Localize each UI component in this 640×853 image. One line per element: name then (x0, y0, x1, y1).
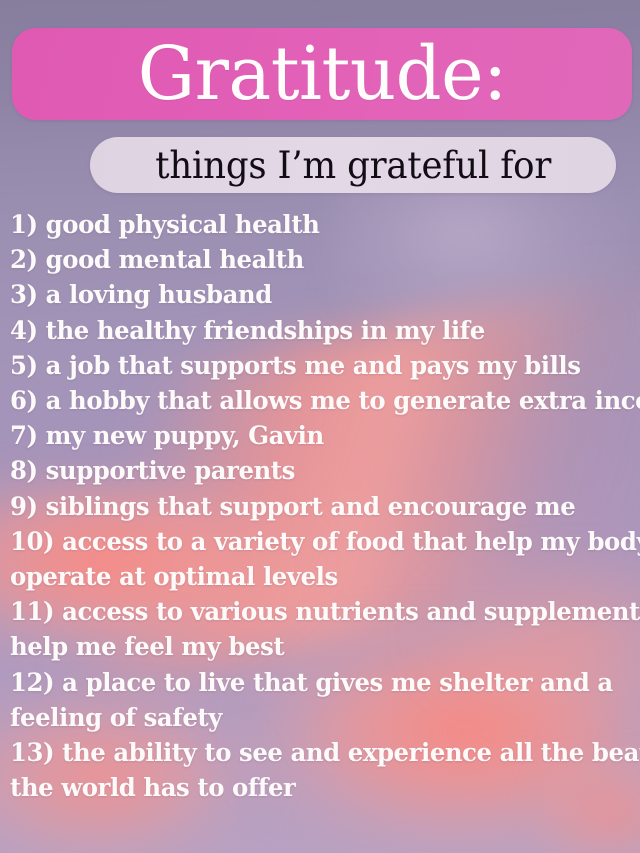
gratitude-list: 1) good physical health 2) good mental h… (10, 208, 634, 806)
list-item: 7) my new puppy, Gavin (10, 419, 606, 454)
title-banner: Gratitude: (12, 28, 632, 120)
list-item: 6) a hobby that allows me to generate ex… (10, 384, 606, 419)
list-item: 11) access to various nutrients and supp… (10, 595, 606, 630)
list-item: 9) siblings that support and encourage m… (10, 490, 606, 525)
list-item: 10) access to a variety of food that hel… (10, 525, 606, 560)
list-item: 2) good mental health (10, 243, 606, 278)
list-item-continuation: operate at optimal levels (10, 560, 606, 595)
page-title: Gratitude: (137, 37, 506, 111)
list-item: 1) good physical health (10, 208, 606, 243)
list-item: 13) the ability to see and experience al… (10, 736, 606, 771)
list-item: 12) a place to live that gives me shelte… (10, 666, 606, 701)
list-item-continuation: help me feel my best (10, 630, 606, 665)
list-item: 5) a job that supports me and pays my bi… (10, 349, 606, 384)
list-item-continuation: feeling of safety (10, 701, 606, 736)
subtitle-banner: things I’m grateful for (90, 137, 616, 193)
list-item: 8) supportive parents (10, 454, 606, 489)
list-item: 4) the healthy friendships in my life (10, 314, 606, 349)
gratitude-poster: Gratitude: things I’m grateful for 1) go… (0, 0, 640, 853)
page-subtitle: things I’m grateful for (155, 147, 551, 184)
list-item: 3) a loving husband (10, 278, 606, 313)
list-item-continuation: the world has to offer (10, 771, 606, 806)
